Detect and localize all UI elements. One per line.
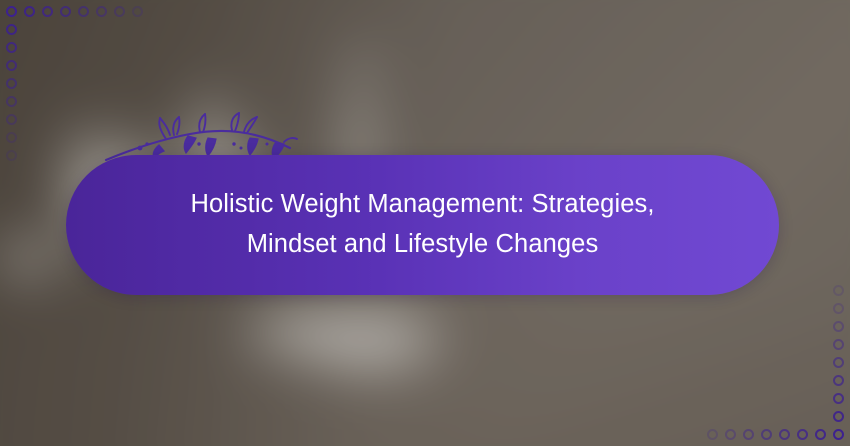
decorative-dot bbox=[6, 6, 17, 17]
decorative-dot bbox=[833, 321, 844, 332]
decorative-dot bbox=[761, 429, 772, 440]
decorative-dot bbox=[833, 339, 844, 350]
decorative-dot bbox=[833, 393, 844, 404]
decorative-dot bbox=[725, 429, 736, 440]
decorative-dot bbox=[815, 429, 826, 440]
decorative-dot bbox=[6, 132, 17, 143]
decorative-dot bbox=[114, 6, 125, 17]
decorative-dot bbox=[833, 285, 844, 296]
page-title-line-1: Holistic Weight Management: Strategies, bbox=[190, 190, 654, 218]
decorative-dot bbox=[6, 96, 17, 107]
page-title: Holistic Weight Management: Strategies,M… bbox=[190, 184, 654, 266]
decorative-dot bbox=[6, 60, 17, 71]
decorative-dot bbox=[797, 429, 808, 440]
page-title-line-2: Mindset and Lifestyle Changes bbox=[247, 230, 599, 258]
decorative-dot bbox=[833, 357, 844, 368]
decorative-dot bbox=[6, 24, 17, 35]
decorative-dot bbox=[833, 375, 844, 386]
title-pill-banner: Holistic Weight Management: Strategies,M… bbox=[66, 155, 779, 295]
decorative-dot bbox=[96, 6, 107, 17]
decorative-dot bbox=[743, 429, 754, 440]
decorative-dot bbox=[42, 6, 53, 17]
decorative-dot bbox=[132, 6, 143, 17]
decorative-dot bbox=[779, 429, 790, 440]
decorative-dot bbox=[833, 303, 844, 314]
decorative-dot bbox=[833, 429, 844, 440]
decorative-dot bbox=[6, 42, 17, 53]
decorative-dot bbox=[6, 150, 17, 161]
decorative-dot bbox=[6, 114, 17, 125]
decorative-dot bbox=[6, 78, 17, 89]
decorative-dot bbox=[24, 6, 35, 17]
decorative-dot bbox=[707, 429, 718, 440]
decorative-dot bbox=[833, 411, 844, 422]
decorative-dot bbox=[78, 6, 89, 17]
article-header-card: Holistic Weight Management: Strategies,M… bbox=[0, 0, 850, 446]
decorative-dot bbox=[60, 6, 71, 17]
